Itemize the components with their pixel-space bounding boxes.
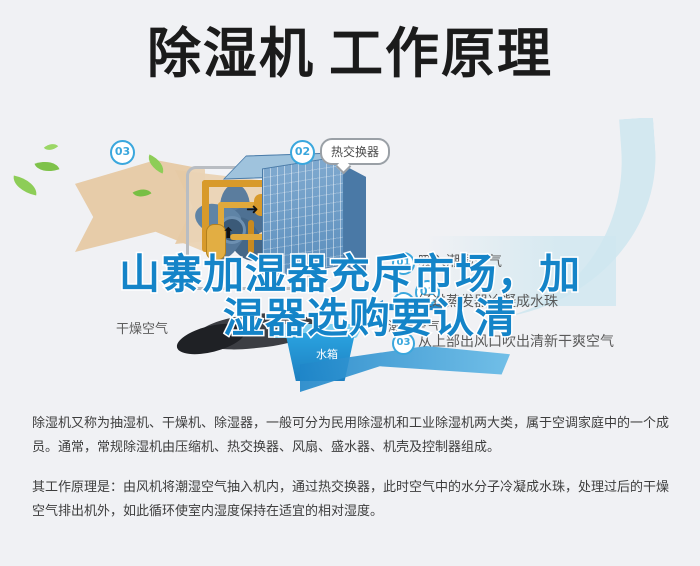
process-step: 03 从上部出风口吹出清新干爽空气 — [392, 328, 672, 368]
body-text: 除湿机又称为抽湿机、干燥机、除湿器，一般可分为民用除湿机和工业除湿机两大类，属于… — [32, 412, 672, 524]
flow-arrow-right-icon: ➜ — [246, 202, 259, 217]
leaf-icon — [35, 157, 60, 176]
title-part-1: 除湿机 — [147, 22, 315, 85]
body-paragraph-2: 其工作原理是：由风机将潮湿空气抽入机内，通过热交换器，此时空气中的水分子冷凝成水… — [32, 476, 672, 524]
step-badge: 02 — [392, 292, 415, 315]
process-step: 02 经过蒸发器冷凝成水珠 — [392, 288, 672, 328]
leaf-icon — [44, 140, 58, 154]
step-text: 经过蒸发器冷凝成水珠 — [418, 291, 558, 311]
process-step-list: 01 吸入潮湿空气 02 经过蒸发器冷凝成水珠 03 从上部出风口吹出清新干爽空… — [392, 248, 672, 368]
title-part-2: 工作原理 — [329, 22, 553, 85]
process-step: 01 吸入潮湿空气 — [392, 248, 672, 288]
step-badge: 01 — [392, 252, 415, 275]
step-badge: 03 — [392, 332, 415, 355]
page-title: 除湿机工作原理 — [0, 26, 700, 83]
flow-arrow-up-icon: ⬆ — [222, 226, 235, 241]
callout-label-dry-air: 干燥空气 — [116, 318, 168, 337]
callout-badge-03: 03 — [110, 140, 135, 165]
body-paragraph-1: 除湿机又称为抽湿机、干燥机、除湿器，一般可分为民用除湿机和工业除湿机两大类，属于… — [32, 412, 672, 460]
callout-label-heat-exchanger: 热交换器 — [320, 138, 390, 165]
infographic-page: 除湿机工作原理 — [0, 0, 700, 566]
step-text: 吸入潮湿空气 — [418, 251, 502, 271]
heat-exchanger-coil — [262, 156, 344, 279]
leaf-icon — [11, 175, 40, 195]
callout-badge-02: 02 — [290, 140, 315, 165]
step-text: 从上部出风口吹出清新干爽空气 — [418, 331, 614, 351]
